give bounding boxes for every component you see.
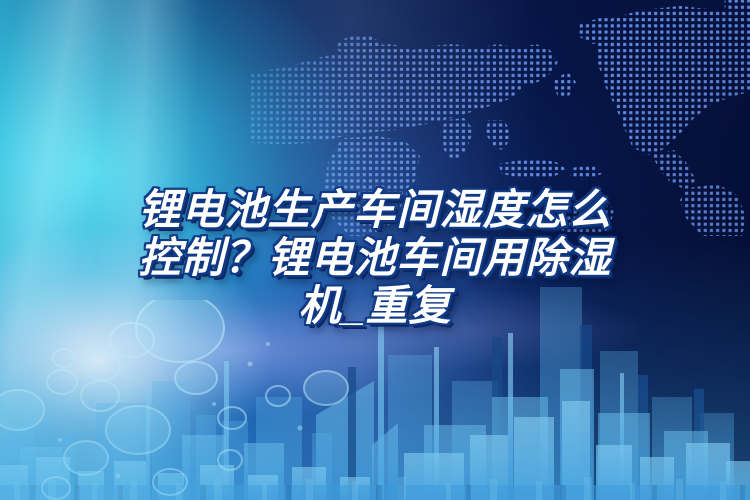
banner-image: 锂电池生产车间湿度怎么 控制？锂电池车间用除湿 机_重复 <box>0 0 750 500</box>
bubble-overlay <box>0 300 420 500</box>
page-title: 锂电池生产车间湿度怎么 控制？锂电池车间用除湿 机_重复 <box>62 186 688 330</box>
